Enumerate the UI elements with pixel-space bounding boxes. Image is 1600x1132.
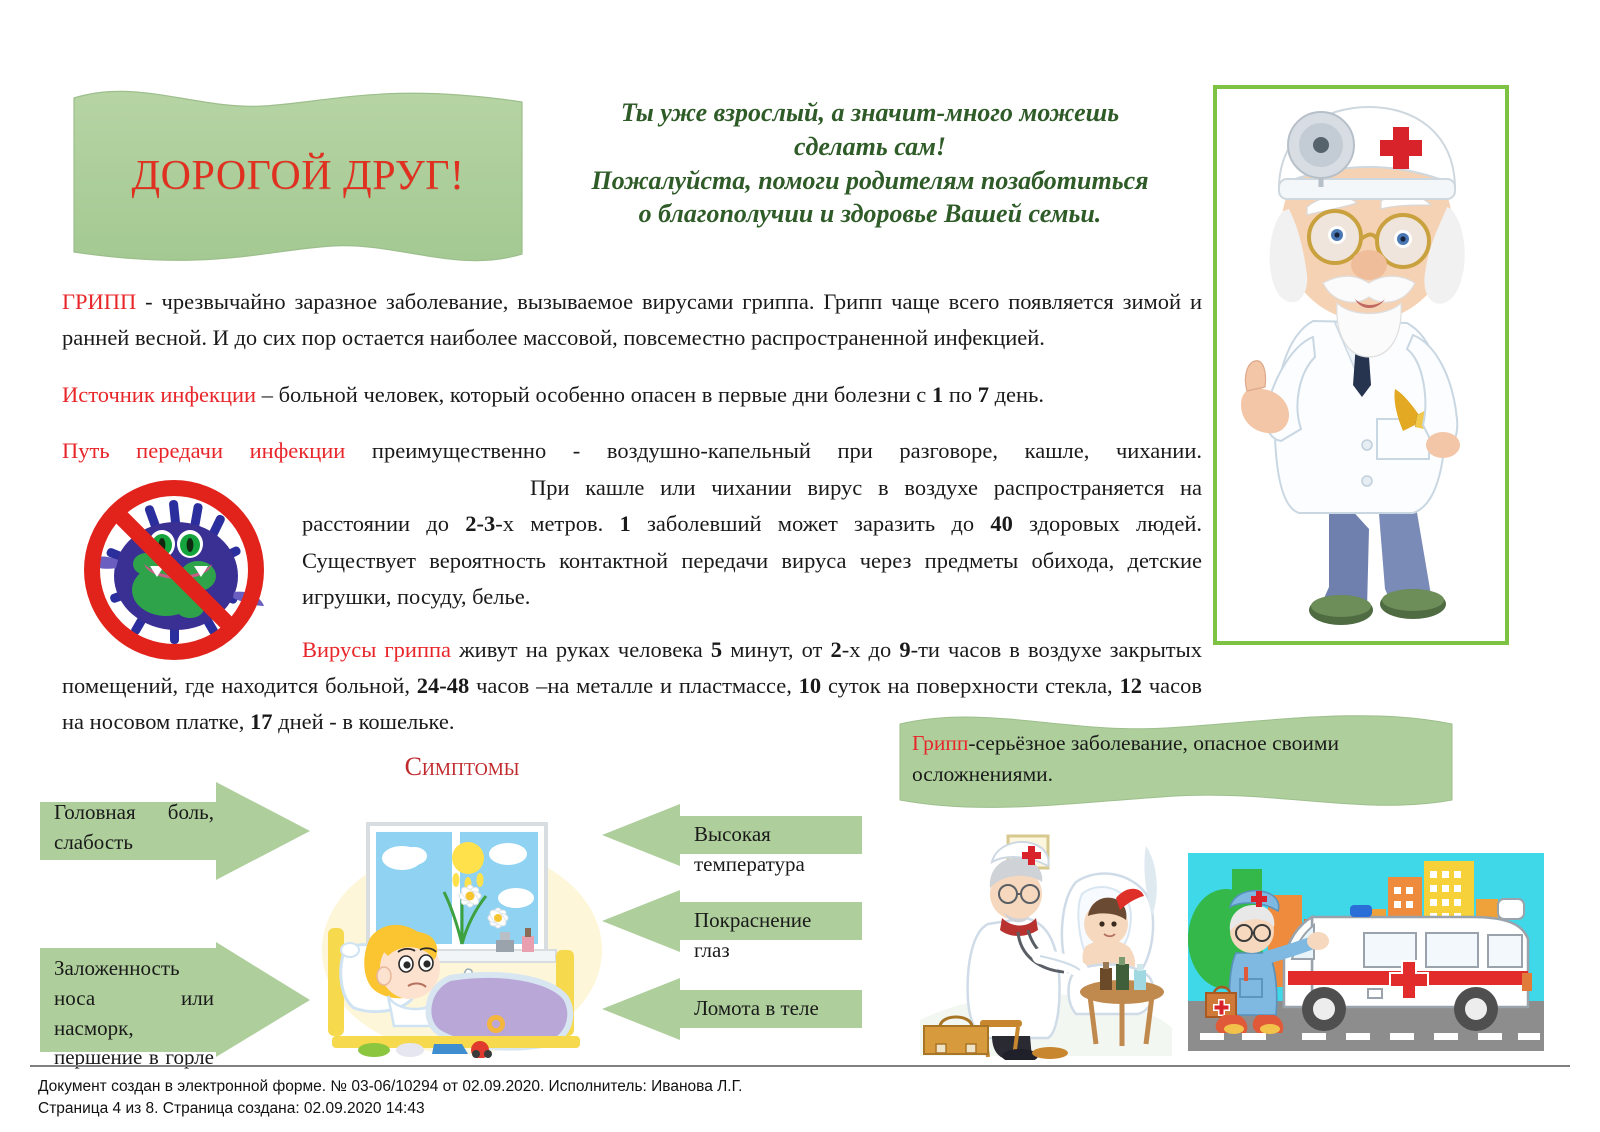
article-body: ГРИПП - чрезвычайно заразное заболевание… <box>62 284 1202 761</box>
paragraph-transmission: Путь передачи инфекции преимущественно -… <box>62 433 1202 615</box>
ambulance-illustration <box>1172 843 1560 1058</box>
source-day-from: 1 <box>932 382 943 407</box>
viruses-hanky-hours: 12 <box>1120 673 1143 698</box>
viruses-text-f: суток на поверхности стекла, <box>821 673 1119 698</box>
symptom-arrow-red-eyes: Покраснение глаз <box>602 890 862 952</box>
viruses-glass-days: 10 <box>799 673 822 698</box>
symptoms-title: Симптомы <box>372 752 552 782</box>
child-in-bed-image <box>310 800 610 1058</box>
intro-message: Ты уже взрослый, а значит-много можешь с… <box>534 96 1206 231</box>
transmission-infects-count: 40 <box>990 511 1013 536</box>
flu-text: чрезвычайно заразное заболевание, вызыва… <box>62 289 1202 350</box>
flu-dash: - <box>136 289 161 314</box>
footer-divider <box>30 1065 1570 1067</box>
transmission-distance: 2-3 <box>465 511 495 536</box>
dear-friend-ribbon: ДОРОГОЙ ДРУГ! <box>68 84 528 274</box>
poster-page: ДОРОГОЙ ДРУГ! Ты уже взрослый, а значит-… <box>0 0 1600 1132</box>
viruses-wallet-days: 17 <box>250 709 273 734</box>
symptom-label-body-aches: Ломота в теле <box>694 994 844 1024</box>
intro-line-3: Пожалуйста, помоги родителям позаботитьс… <box>534 164 1206 198</box>
doctor-visit-image <box>900 820 1190 1060</box>
paragraph-source: Источник инфекции – больной человек, кот… <box>62 377 1202 413</box>
flu-label: ГРИПП <box>62 289 136 314</box>
child-in-bed-illustration <box>310 800 610 1058</box>
intro-line-2: сделать сам! <box>534 130 1206 164</box>
transmission-lead: преимущественно - воздушно-капельный при… <box>345 438 1202 463</box>
source-text-a: – больной человек, который особенно опас… <box>256 382 932 407</box>
viruses-hands-minutes: 5 <box>711 637 722 662</box>
viruses-metal-hours: 24-48 <box>417 673 470 698</box>
viruses-text-h: дней - в кошельке. <box>273 709 455 734</box>
transmission-body-b: -х метров. <box>495 511 619 536</box>
document-footer: Документ создан в электронной форме. № 0… <box>38 1076 742 1121</box>
doctor-illustration-frame <box>1213 85 1509 645</box>
transmission-body-c: заболевший может заразить до <box>631 511 991 536</box>
complications-banner-text: Грипп-серьёзное заболевание, опасное сво… <box>912 728 1442 789</box>
viruses-text-a: живут на руках человека <box>451 637 711 662</box>
ribbon-title: ДОРОГОЙ ДРУГ! <box>68 84 528 274</box>
source-text-c: день. <box>989 382 1044 407</box>
complications-text: -серьёзное заболевание, опасное своими о… <box>912 731 1339 786</box>
virus-prohibited-illustration <box>70 472 288 662</box>
paragraph-flu: ГРИПП - чрезвычайно заразное заболевание… <box>62 284 1202 357</box>
symptom-arrow-body-aches: Ломота в теле <box>602 978 862 1040</box>
doctor-visit-illustration <box>900 820 1190 1060</box>
transmission-label: Путь передачи инфекции <box>62 438 345 463</box>
symptom-label-fever: Высокая температура <box>694 820 844 880</box>
doctor-illustration <box>1217 89 1505 641</box>
viruses-air-to: 9 <box>899 637 910 662</box>
symptom-label-red-eyes: Покраснение глаз <box>694 906 844 966</box>
source-day-to: 7 <box>978 382 989 407</box>
symptom-arrow-headache: Головная боль, слабость <box>40 782 310 880</box>
symptom-label-headache: Головная боль, слабость <box>54 798 214 858</box>
viruses-text-c: -х до <box>842 637 900 662</box>
transmission-one-sick: 1 <box>620 511 631 536</box>
intro-line-1: Ты уже взрослый, а значит-много можешь <box>534 96 1206 130</box>
complications-banner: Грипп-серьёзное заболевание, опасное сво… <box>896 712 1456 812</box>
virus-no-sign-icon <box>70 472 288 662</box>
symptom-arrow-congestion: Заложенность носа или насморк, першение … <box>40 942 310 1057</box>
intro-line-4: о благополучии и здоровье Вашей семьи. <box>534 197 1206 231</box>
source-text-b: по <box>943 382 978 407</box>
viruses-text-b: минут, от <box>722 637 830 662</box>
symptom-label-congestion: Заложенность носа или насморк, першение … <box>54 954 214 1073</box>
viruses-text-e: часов –на металле и пластмассе, <box>469 673 798 698</box>
footer-line-1: Документ создан в электронной форме. № 0… <box>38 1076 742 1098</box>
source-label: Источник инфекции <box>62 382 256 407</box>
footer-line-2: Страница 4 из 8. Страница создана: 02.09… <box>38 1098 742 1120</box>
ambulance-image <box>1172 843 1560 1058</box>
complications-highlight: Грипп <box>912 731 968 755</box>
viruses-air-from: 2 <box>830 637 841 662</box>
symptom-arrow-fever: Высокая температура <box>602 804 862 866</box>
viruses-label: Вирусы гриппа <box>302 637 451 662</box>
